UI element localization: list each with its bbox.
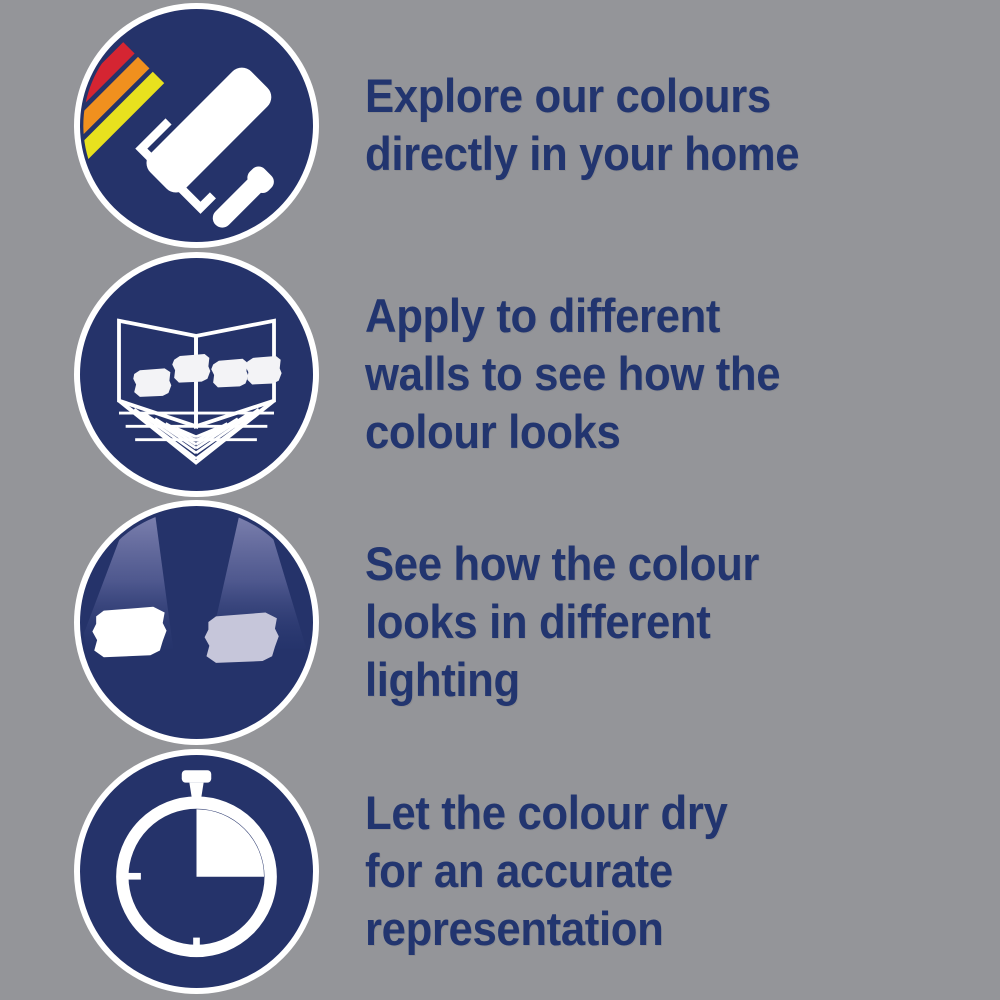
spotlight-swatches-icon — [74, 500, 319, 745]
stopwatch-icon — [74, 749, 319, 994]
step-caption-3: See how the colour looks in different li… — [365, 535, 956, 710]
step-row-2: Apply to different walls to see how the … — [0, 250, 1000, 498]
step-icon-wrap-1 — [74, 3, 319, 248]
step-caption-1: Explore our colours directly in your hom… — [365, 67, 956, 184]
step-caption-4: Let the colour dry for an accurate repre… — [365, 784, 956, 959]
step-row-4: Let the colour dry for an accurate repre… — [0, 746, 1000, 996]
paint-roller-icon — [74, 3, 319, 248]
step-caption-2: Apply to different walls to see how the … — [365, 287, 956, 462]
step-icon-wrap-3 — [74, 500, 319, 745]
step-icon-wrap-2 — [74, 252, 319, 497]
step-icon-wrap-4 — [74, 749, 319, 994]
step-row-3: See how the colour looks in different li… — [0, 498, 1000, 746]
infographic-board: Explore our colours directly in your hom… — [0, 0, 1000, 1000]
step-row-1: Explore our colours directly in your hom… — [0, 0, 1000, 250]
room-walls-icon — [74, 252, 319, 497]
